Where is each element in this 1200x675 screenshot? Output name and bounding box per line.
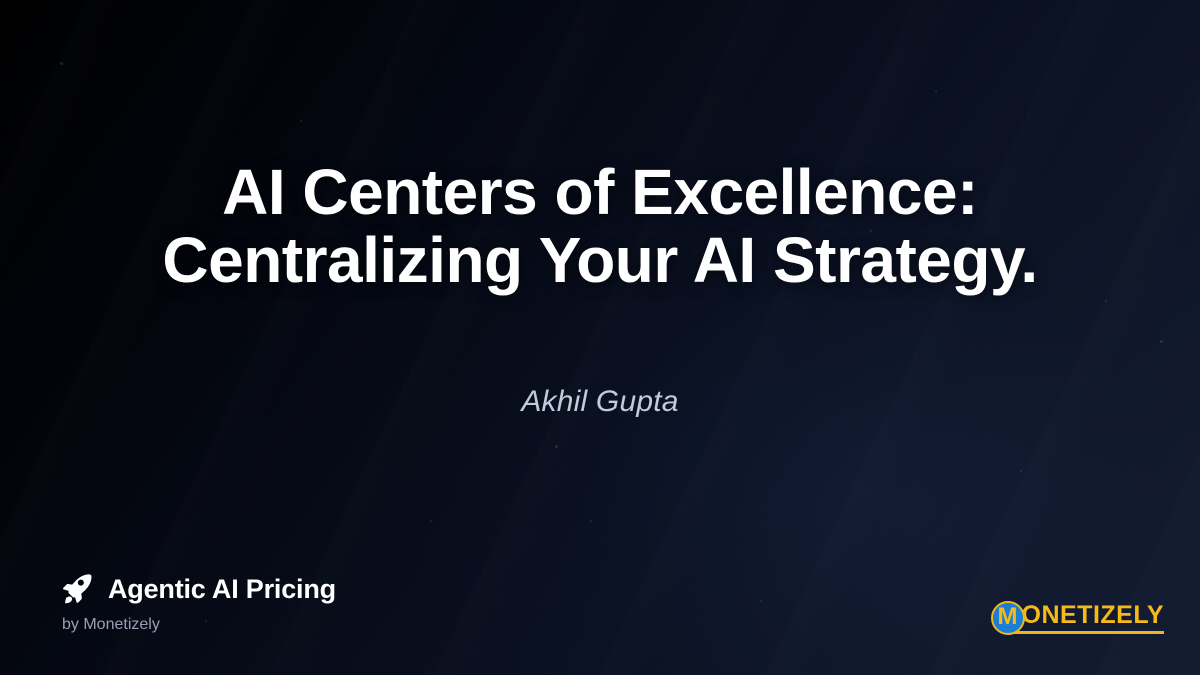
monetizely-logo: M ONETIZELY (991, 601, 1165, 635)
title-slide: AI Centers of Excellence: Centralizing Y… (0, 0, 1200, 675)
brand-block: Agentic AI Pricing by Monetizely (60, 572, 336, 633)
brand-title: Agentic AI Pricing (108, 576, 336, 603)
monetizely-logo-letter: M (998, 605, 1018, 629)
monetizely-logo-mark: M (991, 601, 1025, 635)
monetizely-wordmark-wrap: ONETIZELY (1022, 603, 1165, 634)
brand-attribution: by Monetizely (62, 617, 336, 633)
monetizely-underline (1014, 631, 1165, 634)
presenter-name: Akhil Gupta (0, 385, 1200, 419)
title-line-1: AI Centers of Excellence: (60, 158, 1140, 226)
page-title: AI Centers of Excellence: Centralizing Y… (0, 158, 1200, 294)
title-line-2: Centralizing Your AI Strategy. (60, 226, 1140, 294)
monetizely-wordmark: ONETIZELY (1022, 603, 1165, 628)
brand-row: Agentic AI Pricing (60, 572, 336, 606)
rocket-icon (60, 572, 94, 606)
